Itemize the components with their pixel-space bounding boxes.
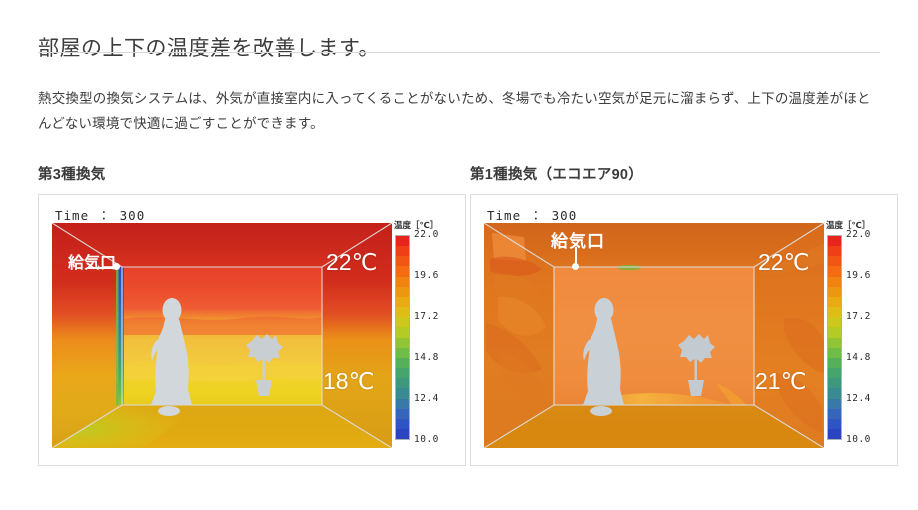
- scale-tick-2: 17.2: [846, 311, 871, 322]
- scale-tick-1: 19.6: [846, 270, 871, 281]
- color-scale-band-8: [828, 317, 841, 327]
- color-scale-type3: 温度［℃］ 22.0 19.6 17.2 14.8 12.4 10.0: [394, 219, 458, 449]
- color-scale-band-0: [828, 236, 841, 246]
- color-scale-band-12: [396, 358, 409, 368]
- scale-tick-0: 22.0: [414, 229, 439, 240]
- color-scale-band-10: [828, 338, 841, 348]
- color-scale-band-13: [396, 368, 409, 378]
- panel-inner: Time ： 300: [471, 195, 897, 465]
- color-scale-band-18: [828, 419, 841, 429]
- scale-tick-2: 17.2: [414, 311, 439, 322]
- room-back-wall: [554, 267, 754, 405]
- color-scale-band-19: [396, 429, 409, 439]
- color-scale-band-5: [828, 287, 841, 297]
- color-scale-band-11: [828, 348, 841, 358]
- cold-air-jet: [118, 267, 124, 405]
- scale-tick-4: 12.4: [414, 393, 439, 404]
- scale-tick-3: 14.8: [846, 352, 871, 363]
- color-scale-band-1: [828, 246, 841, 256]
- color-scale-band-15: [396, 388, 409, 398]
- intro-paragraph: 熱交換型の換気システムは、外気が直接室内に入ってくることがないため、冬場でも冷た…: [38, 86, 882, 136]
- cold-air-jet-edge: [116, 267, 119, 405]
- color-scale-band-12: [828, 358, 841, 368]
- color-scale-band-19: [828, 429, 841, 439]
- color-scale-band-6: [828, 297, 841, 307]
- color-scale-band-0: [396, 236, 409, 246]
- color-scale-ticks: 22.0 19.6 17.2 14.8 12.4 10.0: [846, 235, 890, 440]
- color-scale-band-5: [396, 287, 409, 297]
- page-title: 部屋の上下の温度差を改善します。: [38, 32, 380, 62]
- scale-tick-0: 22.0: [846, 229, 871, 240]
- color-scale-band-13: [828, 368, 841, 378]
- color-scale-band-4: [396, 277, 409, 287]
- color-scale-type1: 温度［℃］ 22.0 19.6 17.2 14.8 12.4 10.0: [826, 219, 890, 449]
- color-scale-band-9: [396, 327, 409, 337]
- color-scale-bar: [395, 235, 410, 440]
- color-scale-band-2: [396, 256, 409, 266]
- title-divider: [38, 52, 880, 53]
- color-scale-band-17: [396, 409, 409, 419]
- thermal-panel-type1: Time ： 300: [470, 194, 898, 466]
- color-scale-band-16: [396, 399, 409, 409]
- stratification-band-3: [122, 378, 322, 405]
- color-scale-bar: [827, 235, 842, 440]
- section-label-type1: 第1種換気（エコエア90）: [470, 163, 643, 184]
- color-scale-band-3: [828, 266, 841, 276]
- scale-tick-4: 12.4: [846, 393, 871, 404]
- thermal-image-type3: [52, 223, 392, 448]
- page-root: 部屋の上下の温度差を改善します。 熱交換型の換気システムは、外気が直接室内に入っ…: [0, 0, 918, 510]
- scale-tick-3: 14.8: [414, 352, 439, 363]
- color-scale-band-8: [396, 317, 409, 327]
- color-scale-band-7: [828, 307, 841, 317]
- time-label: Time ： 300: [55, 205, 145, 224]
- color-scale-band-14: [396, 378, 409, 388]
- color-scale-band-4: [828, 277, 841, 287]
- section-label-type3: 第3種換気: [38, 163, 106, 184]
- color-scale-band-18: [396, 419, 409, 429]
- panel-inner: Time ： 300: [39, 195, 465, 465]
- scale-tick-5: 10.0: [846, 434, 871, 445]
- scale-tick-5: 10.0: [414, 434, 439, 445]
- color-scale-band-15: [828, 388, 841, 398]
- scale-tick-1: 19.6: [414, 270, 439, 281]
- color-scale-band-17: [828, 409, 841, 419]
- color-scale-band-2: [828, 256, 841, 266]
- color-scale-band-9: [828, 327, 841, 337]
- thermal-panel-type3: Time ： 300: [38, 194, 466, 466]
- color-scale-band-1: [396, 246, 409, 256]
- color-scale-band-10: [396, 338, 409, 348]
- color-scale-ticks: 22.0 19.6 17.2 14.8 12.4 10.0: [414, 235, 458, 440]
- color-scale-band-16: [828, 399, 841, 409]
- color-scale-band-6: [396, 297, 409, 307]
- color-scale-band-14: [828, 378, 841, 388]
- thermal-image-type1: [484, 223, 824, 448]
- color-scale-band-3: [396, 266, 409, 276]
- time-label: Time ： 300: [487, 205, 577, 224]
- color-scale-band-7: [396, 307, 409, 317]
- color-scale-band-11: [396, 348, 409, 358]
